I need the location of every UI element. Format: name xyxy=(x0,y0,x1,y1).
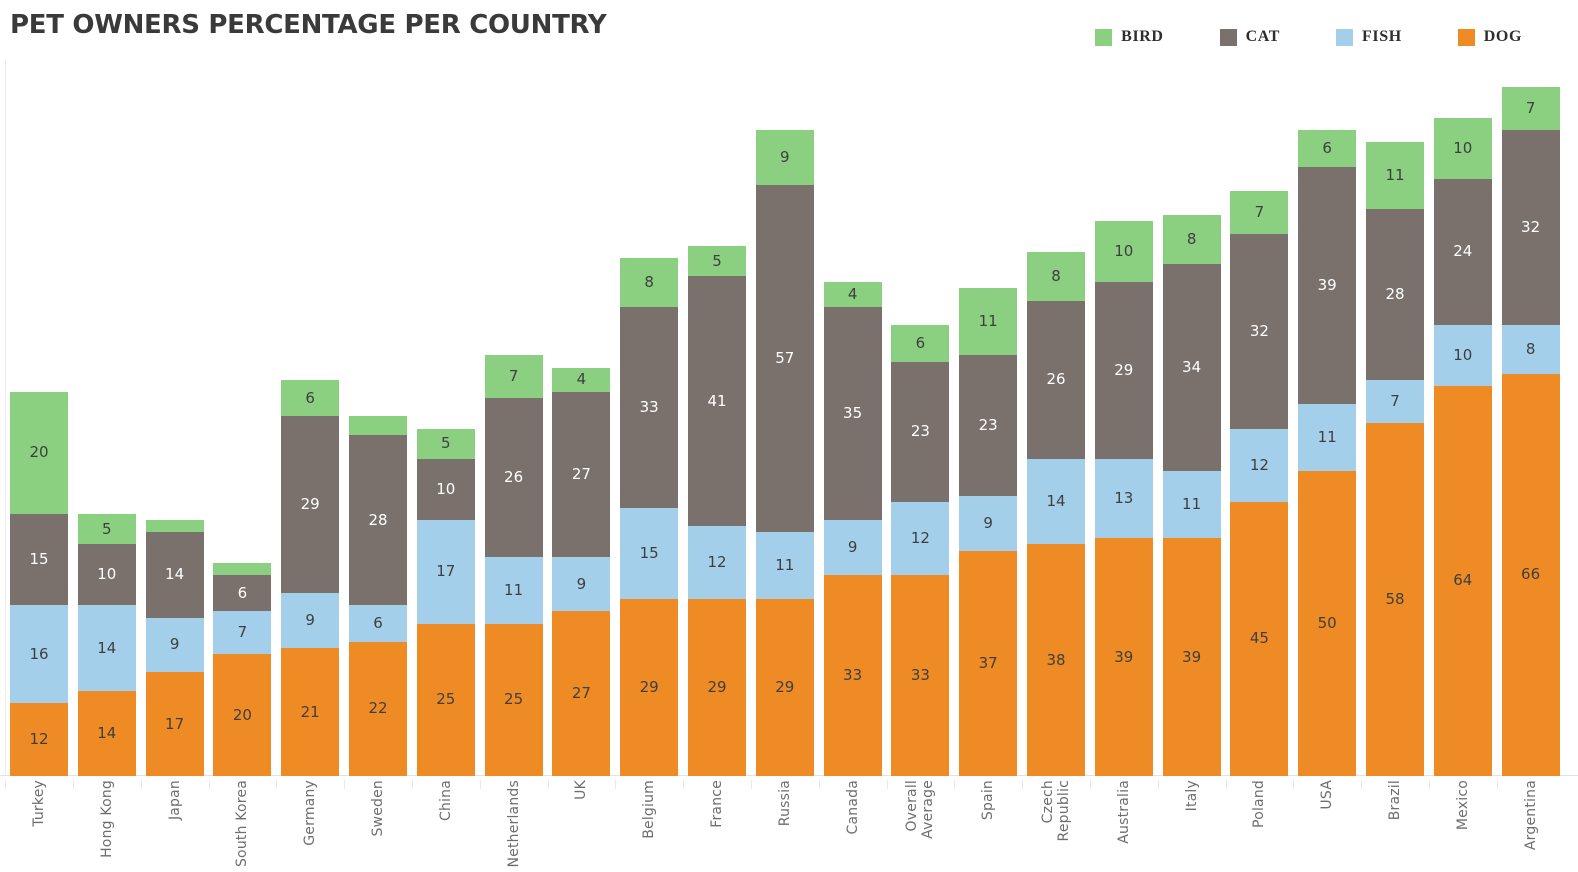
bar-segment-cat[interactable]: 35 xyxy=(824,307,882,520)
bar-segment-value: 41 xyxy=(707,394,726,409)
bar-segment-value: 20 xyxy=(29,445,48,460)
x-tick-separator xyxy=(141,780,142,789)
x-tick-separator xyxy=(683,780,684,789)
x-tick-label: Argentina xyxy=(1523,780,1539,850)
bar-segment-value: 11 xyxy=(1318,430,1337,445)
x-tick-south-korea: South Korea xyxy=(213,780,271,872)
bar-segment-fish[interactable]: 11 xyxy=(1163,471,1221,538)
bar-segment-bird[interactable]: 5 xyxy=(688,246,746,276)
bar-segment-bird[interactable]: 4 xyxy=(552,368,610,392)
bar-segment-bird[interactable] xyxy=(146,520,204,532)
bar-segment-value: 29 xyxy=(775,680,794,695)
bar-segment-cat[interactable]: 32 xyxy=(1230,234,1288,429)
bar-segment-value: 33 xyxy=(843,668,862,683)
x-tick-italy: Italy xyxy=(1163,780,1221,872)
bar-segment-value: 10 xyxy=(436,482,455,497)
x-tick-label: France xyxy=(709,780,725,828)
bar-segment-fish[interactable]: 13 xyxy=(1095,459,1153,538)
bar-segment-cat[interactable]: 6 xyxy=(213,575,271,612)
bar-segment-cat[interactable]: 29 xyxy=(1095,282,1153,459)
x-tick-brazil: Brazil xyxy=(1366,780,1424,872)
bar-segment-value: 28 xyxy=(368,513,387,528)
bar-segment-value: 4 xyxy=(577,372,587,387)
bar-segment-value: 58 xyxy=(1385,592,1404,607)
bar-segment-value: 37 xyxy=(979,656,998,671)
bar-segment-cat[interactable]: 39 xyxy=(1298,167,1356,405)
bar-segment-dog[interactable]: 25 xyxy=(485,624,543,776)
bar-segment-cat[interactable]: 33 xyxy=(620,307,678,508)
bar-segment-value: 50 xyxy=(1318,616,1337,631)
x-tick-turkey: Turkey xyxy=(10,780,68,872)
bar-segment-value: 15 xyxy=(29,552,48,567)
bar-segment-value: 29 xyxy=(640,680,659,695)
y-axis-line xyxy=(5,60,6,776)
bar-segment-value: 39 xyxy=(1114,650,1133,665)
bar-segment-value: 13 xyxy=(1114,491,1133,506)
bar-segment-value: 6 xyxy=(916,336,926,351)
bar-segment-dog[interactable]: 21 xyxy=(281,648,339,776)
bar-group[interactable]: 28622 xyxy=(349,416,407,776)
bar-segment-fish[interactable]: 9 xyxy=(552,557,610,612)
bar-segment-dog[interactable]: 25 xyxy=(417,624,475,776)
x-tick-separator xyxy=(887,780,888,789)
bar-segment-value: 4 xyxy=(848,287,858,302)
bar-segment-cat[interactable]: 27 xyxy=(552,392,610,557)
bar-group[interactable]: 8331529 xyxy=(620,258,678,776)
bar-segment-dog[interactable]: 14 xyxy=(78,691,136,776)
bar-segment-value: 8 xyxy=(1051,269,1061,284)
bar-group[interactable]: 8261438 xyxy=(1027,252,1085,776)
bar-segment-bird[interactable]: 11 xyxy=(959,288,1017,355)
bar-segment-dog[interactable]: 29 xyxy=(756,599,814,776)
bar-segment-value: 38 xyxy=(1046,653,1065,668)
bar-segment-bird[interactable]: 7 xyxy=(485,355,543,398)
bar-segment-bird[interactable] xyxy=(213,563,271,575)
bar-segment-fish[interactable]: 11 xyxy=(485,557,543,624)
bar-segment-cat[interactable]: 26 xyxy=(485,398,543,556)
bar-segment-value: 32 xyxy=(1521,220,1540,235)
x-tick-label: Italy xyxy=(1184,780,1200,811)
bar-segment-fish[interactable]: 12 xyxy=(688,526,746,599)
x-tick-separator xyxy=(209,780,210,789)
bar-segment-value: 17 xyxy=(436,564,455,579)
bar-segment-fish[interactable]: 12 xyxy=(891,502,949,575)
x-tick-separator xyxy=(819,780,820,789)
bar-segment-dog[interactable]: 39 xyxy=(1163,538,1221,776)
bar-group[interactable]: 1123937 xyxy=(959,288,1017,776)
bar-group[interactable]: 6231233 xyxy=(891,325,949,776)
x-tick-spain: Spain xyxy=(959,780,1017,872)
bar-segment-cat[interactable]: 28 xyxy=(349,435,407,606)
bar-segment-cat[interactable]: 15 xyxy=(10,514,68,605)
x-tick-russia: Russia xyxy=(756,780,814,872)
bar-segment-value: 7 xyxy=(238,625,248,640)
bar-segment-bird[interactable]: 10 xyxy=(1434,118,1492,179)
bar-segment-value: 27 xyxy=(572,467,591,482)
bar-group[interactable]: 6720 xyxy=(213,563,271,776)
x-tick-separator xyxy=(1090,780,1091,789)
x-tick-separator xyxy=(1361,780,1362,789)
bar-segment-value: 17 xyxy=(165,717,184,732)
x-tick-separator xyxy=(1429,780,1430,789)
x-tick-poland: Poland xyxy=(1230,780,1288,872)
bar-segment-value: 23 xyxy=(979,418,998,433)
bar-group[interactable]: 435933 xyxy=(824,282,882,776)
bar-segment-value: 27 xyxy=(572,686,591,701)
bar-segment-value: 10 xyxy=(1453,348,1472,363)
bar-segment-value: 9 xyxy=(577,577,587,592)
bar-segment-fish[interactable]: 14 xyxy=(78,605,136,690)
x-tick-label: Australia xyxy=(1116,780,1132,844)
bar-segment-value: 11 xyxy=(1385,168,1404,183)
x-tick-separator xyxy=(954,780,955,789)
bar-segment-value: 26 xyxy=(1046,372,1065,387)
bar-segment-dog[interactable]: 29 xyxy=(688,599,746,776)
bar-segment-value: 21 xyxy=(301,705,320,720)
x-tick-label: Canada xyxy=(845,780,861,834)
x-tick-separator xyxy=(1022,780,1023,789)
bar-segment-bird[interactable]: 5 xyxy=(78,514,136,544)
bar-segment-cat[interactable]: 24 xyxy=(1434,179,1492,325)
bar-segment-value: 12 xyxy=(29,732,48,747)
bar-segment-bird[interactable]: 6 xyxy=(1298,130,1356,167)
bar-segment-dog[interactable]: 66 xyxy=(1502,374,1560,776)
bar-group[interactable]: 629921 xyxy=(281,380,339,776)
bar-segment-value: 25 xyxy=(436,692,455,707)
bar-group[interactable]: 8341139 xyxy=(1163,215,1221,776)
bar-segment-bird[interactable]: 11 xyxy=(1366,142,1424,209)
x-tick-china: China xyxy=(417,780,475,872)
x-tick-overall-average: OverallAverage xyxy=(891,780,949,872)
x-tick-label: Average xyxy=(920,780,936,839)
bar-segment-fish[interactable]: 17 xyxy=(417,520,475,624)
bar-segment-value: 6 xyxy=(373,616,383,631)
bar-segment-dog[interactable]: 58 xyxy=(1366,423,1424,777)
bar-segment-bird[interactable] xyxy=(349,416,407,434)
bar-segment-value: 34 xyxy=(1182,360,1201,375)
x-tick-label: South Korea xyxy=(234,780,250,867)
bar-segment-value: 6 xyxy=(305,391,315,406)
bar-segment-dog[interactable]: 33 xyxy=(824,575,882,776)
bar-segment-fish[interactable]: 12 xyxy=(1230,429,1288,502)
x-tick-label: Mexico xyxy=(1455,780,1471,830)
bar-segment-value: 29 xyxy=(707,680,726,695)
x-tick-separator xyxy=(344,780,345,789)
x-tick-separator xyxy=(751,780,752,789)
bar-segment-value: 10 xyxy=(1114,244,1133,259)
bar-group[interactable]: 9571129 xyxy=(756,130,814,776)
bar-segment-value: 11 xyxy=(1182,497,1201,512)
bar-group[interactable]: 5101414 xyxy=(78,514,136,776)
bar-segment-bird[interactable]: 10 xyxy=(1095,221,1153,282)
bar-segment-fish[interactable]: 9 xyxy=(824,520,882,575)
bar-segment-value: 64 xyxy=(1453,573,1472,588)
bar-segment-value: 25 xyxy=(504,692,523,707)
x-tick-canada: Canada xyxy=(824,780,882,872)
bar-segment-cat[interactable]: 57 xyxy=(756,185,814,532)
bar-segment-value: 7 xyxy=(1255,205,1265,220)
bar-segment-value: 12 xyxy=(1250,458,1269,473)
x-tick-separator xyxy=(548,780,549,789)
bar-group[interactable]: 5101725 xyxy=(417,429,475,776)
x-tick-germany: Germany xyxy=(281,780,339,872)
x-tick-label: Republic xyxy=(1056,780,1072,841)
bar-segment-value: 7 xyxy=(1390,394,1400,409)
bar-segment-value: 33 xyxy=(640,400,659,415)
x-tick-label: Belgium xyxy=(641,780,657,839)
bar-segment-bird[interactable]: 6 xyxy=(281,380,339,417)
bar-segment-cat[interactable]: 29 xyxy=(281,416,339,593)
x-tick-separator xyxy=(5,780,6,789)
bar-segment-value: 14 xyxy=(165,567,184,582)
bar-segment-bird[interactable]: 4 xyxy=(824,282,882,306)
bar-segment-value: 35 xyxy=(843,406,862,421)
bar-segment-dog[interactable]: 38 xyxy=(1027,544,1085,776)
x-tick-netherlands: Netherlands xyxy=(485,780,543,872)
bar-segment-cat[interactable]: 14 xyxy=(146,532,204,617)
x-tick-label: Japan xyxy=(167,780,183,820)
x-tick-uk: UK xyxy=(552,780,610,872)
bar-group[interactable]: 7261125 xyxy=(485,355,543,776)
x-tick-label: Sweden xyxy=(370,780,386,837)
bar-segment-bird[interactable]: 9 xyxy=(756,130,814,185)
x-tick-separator xyxy=(276,780,277,789)
x-tick-label: Overall xyxy=(904,780,920,831)
bar-segment-value: 14 xyxy=(97,726,116,741)
bar-segment-value: 10 xyxy=(97,567,116,582)
bar-segment-fish[interactable]: 9 xyxy=(959,496,1017,551)
x-tick-hong-kong: Hong Kong xyxy=(78,780,136,872)
plot-area: 2015161251014141491767206299212862251017… xyxy=(0,0,1578,776)
bar-segment-value: 11 xyxy=(504,583,523,598)
bar-segment-value: 23 xyxy=(911,424,930,439)
bar-segment-value: 24 xyxy=(1453,244,1472,259)
bar-segment-value: 9 xyxy=(780,150,790,165)
bar-segment-bird[interactable]: 5 xyxy=(417,429,475,459)
x-tick-label: Spain xyxy=(980,780,996,820)
x-tick-australia: Australia xyxy=(1095,780,1153,872)
bar-segment-value: 15 xyxy=(640,546,659,561)
bar-segment-dog[interactable]: 37 xyxy=(959,551,1017,777)
bar-segment-value: 45 xyxy=(1250,631,1269,646)
bar-segment-cat[interactable]: 10 xyxy=(78,544,136,605)
x-tick-separator xyxy=(1226,780,1227,789)
bar-segment-bird[interactable]: 20 xyxy=(10,392,68,514)
bar-segment-dog[interactable]: 20 xyxy=(213,654,271,776)
bar-group[interactable]: 1128758 xyxy=(1366,142,1424,776)
x-tick-sweden: Sweden xyxy=(349,780,407,872)
bar-segment-cat[interactable]: 41 xyxy=(688,276,746,526)
bar-segment-value: 12 xyxy=(707,555,726,570)
bar-segment-value: 7 xyxy=(1526,101,1536,116)
x-tick-usa: USA xyxy=(1298,780,1356,872)
x-tick-separator xyxy=(615,780,616,789)
bar-segment-dog[interactable]: 22 xyxy=(349,642,407,776)
x-tick-label: UK xyxy=(573,780,589,800)
bar-segment-value: 32 xyxy=(1250,324,1269,339)
bar-segment-fish[interactable]: 8 xyxy=(1502,325,1560,374)
bar-segment-value: 9 xyxy=(170,637,180,652)
chart-root: PET OWNERS PERCENTAGE PER COUNTRY BIRDCA… xyxy=(0,0,1578,872)
x-tick-japan: Japan xyxy=(146,780,204,872)
bar-group[interactable]: 7321245 xyxy=(1230,191,1288,776)
bar-segment-value: 57 xyxy=(775,351,794,366)
bar-group[interactable]: 427927 xyxy=(552,368,610,776)
bar-segment-value: 29 xyxy=(301,497,320,512)
bar-segment-cat[interactable]: 28 xyxy=(1366,209,1424,380)
bar-segment-value: 29 xyxy=(1114,363,1133,378)
bar-segment-bird[interactable]: 6 xyxy=(891,325,949,362)
bar-segment-cat[interactable]: 23 xyxy=(959,355,1017,495)
bar-segment-dog[interactable]: 12 xyxy=(10,703,68,776)
bar-segment-fish[interactable]: 10 xyxy=(1434,325,1492,386)
bar-segment-value: 7 xyxy=(509,369,519,384)
bar-segment-fish[interactable]: 16 xyxy=(10,605,68,703)
x-axis-tick-labels: TurkeyHong KongJapanSouth KoreaGermanySw… xyxy=(0,780,1578,872)
bar-segment-bird[interactable]: 7 xyxy=(1502,87,1560,130)
bar-group[interactable]: 10241064 xyxy=(1434,118,1492,776)
x-tick-label: China xyxy=(438,780,454,821)
bar-segment-dog[interactable]: 17 xyxy=(146,672,204,776)
bar-segment-dog[interactable]: 64 xyxy=(1434,386,1492,776)
x-tick-czech-republic: CzechRepublic xyxy=(1027,780,1085,872)
bar-segment-fish[interactable]: 7 xyxy=(1366,380,1424,423)
bar-segment-value: 9 xyxy=(305,613,315,628)
bar-segment-value: 6 xyxy=(238,586,248,601)
bar-segment-value: 10 xyxy=(1453,141,1472,156)
bar-segment-cat[interactable]: 32 xyxy=(1502,130,1560,325)
bar-segment-fish[interactable]: 9 xyxy=(281,593,339,648)
bar-segment-fish[interactable]: 7 xyxy=(213,611,271,654)
bar-segment-dog[interactable]: 27 xyxy=(552,611,610,776)
x-tick-label: Netherlands xyxy=(506,780,522,868)
bar-segment-value: 8 xyxy=(1526,342,1536,357)
x-tick-label: Poland xyxy=(1251,780,1267,828)
x-tick-label: Hong Kong xyxy=(99,780,115,858)
bar-segment-cat[interactable]: 10 xyxy=(417,459,475,520)
bar-segment-value: 5 xyxy=(712,254,722,269)
bar-segment-bird[interactable]: 8 xyxy=(620,258,678,307)
bar-segment-value: 8 xyxy=(644,275,654,290)
bar-segment-value: 9 xyxy=(983,516,993,531)
x-tick-separator xyxy=(412,780,413,789)
x-tick-separator xyxy=(1497,780,1498,789)
bar-group[interactable]: 6391150 xyxy=(1298,130,1356,776)
bar-segment-value: 26 xyxy=(504,470,523,485)
bar-segment-dog[interactable]: 39 xyxy=(1095,538,1153,776)
bar-segment-value: 28 xyxy=(1385,287,1404,302)
bar-segment-value: 33 xyxy=(911,668,930,683)
x-tick-separator xyxy=(1158,780,1159,789)
bar-segment-bird[interactable]: 8 xyxy=(1027,252,1085,301)
bar-segment-value: 11 xyxy=(979,314,998,329)
bar-group[interactable]: 10291339 xyxy=(1095,221,1153,776)
bar-segment-fish[interactable]: 11 xyxy=(1298,404,1356,471)
x-tick-label: USA xyxy=(1319,780,1335,810)
x-tick-label: Czech xyxy=(1040,780,1056,823)
bar-segment-value: 5 xyxy=(102,522,112,537)
bar-segment-value: 14 xyxy=(1046,494,1065,509)
bar-segment-value: 39 xyxy=(1182,650,1201,665)
x-tick-label: Germany xyxy=(302,780,318,846)
bar-group[interactable]: 5411229 xyxy=(688,246,746,776)
bar-segment-value: 16 xyxy=(29,647,48,662)
bar-segment-value: 39 xyxy=(1318,278,1337,293)
x-tick-label: Russia xyxy=(777,780,793,826)
bar-segment-fish[interactable]: 14 xyxy=(1027,459,1085,544)
bar-segment-cat[interactable]: 34 xyxy=(1163,264,1221,471)
bar-segment-fish[interactable]: 15 xyxy=(620,508,678,599)
bar-segment-value: 22 xyxy=(368,701,387,716)
bar-segment-value: 20 xyxy=(233,708,252,723)
bar-segment-value: 6 xyxy=(1322,141,1332,156)
bar-group[interactable]: 20151612 xyxy=(10,392,68,776)
bar-segment-bird[interactable]: 8 xyxy=(1163,215,1221,264)
bar-group[interactable]: 14917 xyxy=(146,520,204,776)
bar-segment-value: 5 xyxy=(441,436,451,451)
bar-segment-fish[interactable]: 6 xyxy=(349,605,407,642)
x-tick-separator xyxy=(73,780,74,789)
x-tick-belgium: Belgium xyxy=(620,780,678,872)
bar-segment-value: 66 xyxy=(1521,567,1540,582)
x-tick-separator xyxy=(1293,780,1294,789)
x-tick-mexico: Mexico xyxy=(1434,780,1492,872)
bar-segment-value: 9 xyxy=(848,540,858,555)
bar-segment-dog[interactable]: 29 xyxy=(620,599,678,776)
bar-segment-dog[interactable]: 33 xyxy=(891,575,949,776)
bar-segment-bird[interactable]: 7 xyxy=(1230,191,1288,234)
x-tick-label: Brazil xyxy=(1387,780,1403,820)
x-tick-france: France xyxy=(688,780,746,872)
bar-segment-value: 12 xyxy=(911,531,930,546)
bar-segment-fish[interactable]: 9 xyxy=(146,618,204,673)
bar-segment-value: 14 xyxy=(97,641,116,656)
x-tick-argentina: Argentina xyxy=(1502,780,1560,872)
bar-segment-dog[interactable]: 50 xyxy=(1298,471,1356,776)
bar-segment-cat[interactable]: 26 xyxy=(1027,301,1085,459)
x-tick-label: Turkey xyxy=(31,780,47,827)
bar-segment-fish[interactable]: 11 xyxy=(756,532,814,599)
x-tick-separator xyxy=(480,780,481,789)
bar-segment-value: 8 xyxy=(1187,232,1197,247)
bar-segment-value: 11 xyxy=(775,558,794,573)
bar-segment-cat[interactable]: 23 xyxy=(891,362,949,502)
bar-segment-dog[interactable]: 45 xyxy=(1230,502,1288,776)
bar-group[interactable]: 732866 xyxy=(1502,87,1560,776)
